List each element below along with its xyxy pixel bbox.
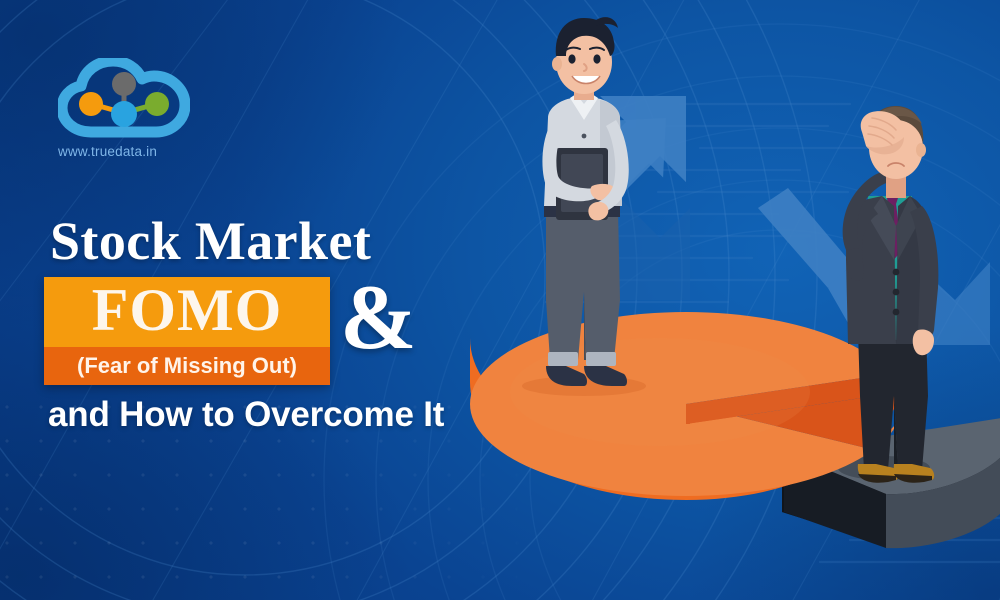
brand-url: www.truedata.in xyxy=(58,144,228,159)
headline-group: Stock Market FOMO (Fear of Missing Out) … xyxy=(44,214,514,434)
fomo-expansion-box: (Fear of Missing Out) xyxy=(44,347,330,385)
fomo-acronym-text: FOMO xyxy=(92,280,283,340)
fomo-acronym-box: FOMO xyxy=(44,277,330,347)
headline-line-1: Stock Market xyxy=(44,214,514,268)
fomo-highlight-block: FOMO (Fear of Missing Out) xyxy=(44,277,330,385)
pie-major-slice xyxy=(470,312,908,506)
fomo-expansion-text: (Fear of Missing Out) xyxy=(77,353,297,379)
ampersand-glyph: & xyxy=(340,271,417,363)
cloud-network-logo-icon xyxy=(58,58,190,140)
headline-acronym-row: FOMO (Fear of Missing Out) & xyxy=(44,277,514,385)
happy-investor-figure xyxy=(542,17,628,386)
banner-root: www.truedata.in Stock Market FOMO (Fear … xyxy=(0,0,1000,600)
brand-logo[interactable]: www.truedata.in xyxy=(48,58,228,159)
headline-line-3: and How to Overcome It xyxy=(44,397,514,434)
